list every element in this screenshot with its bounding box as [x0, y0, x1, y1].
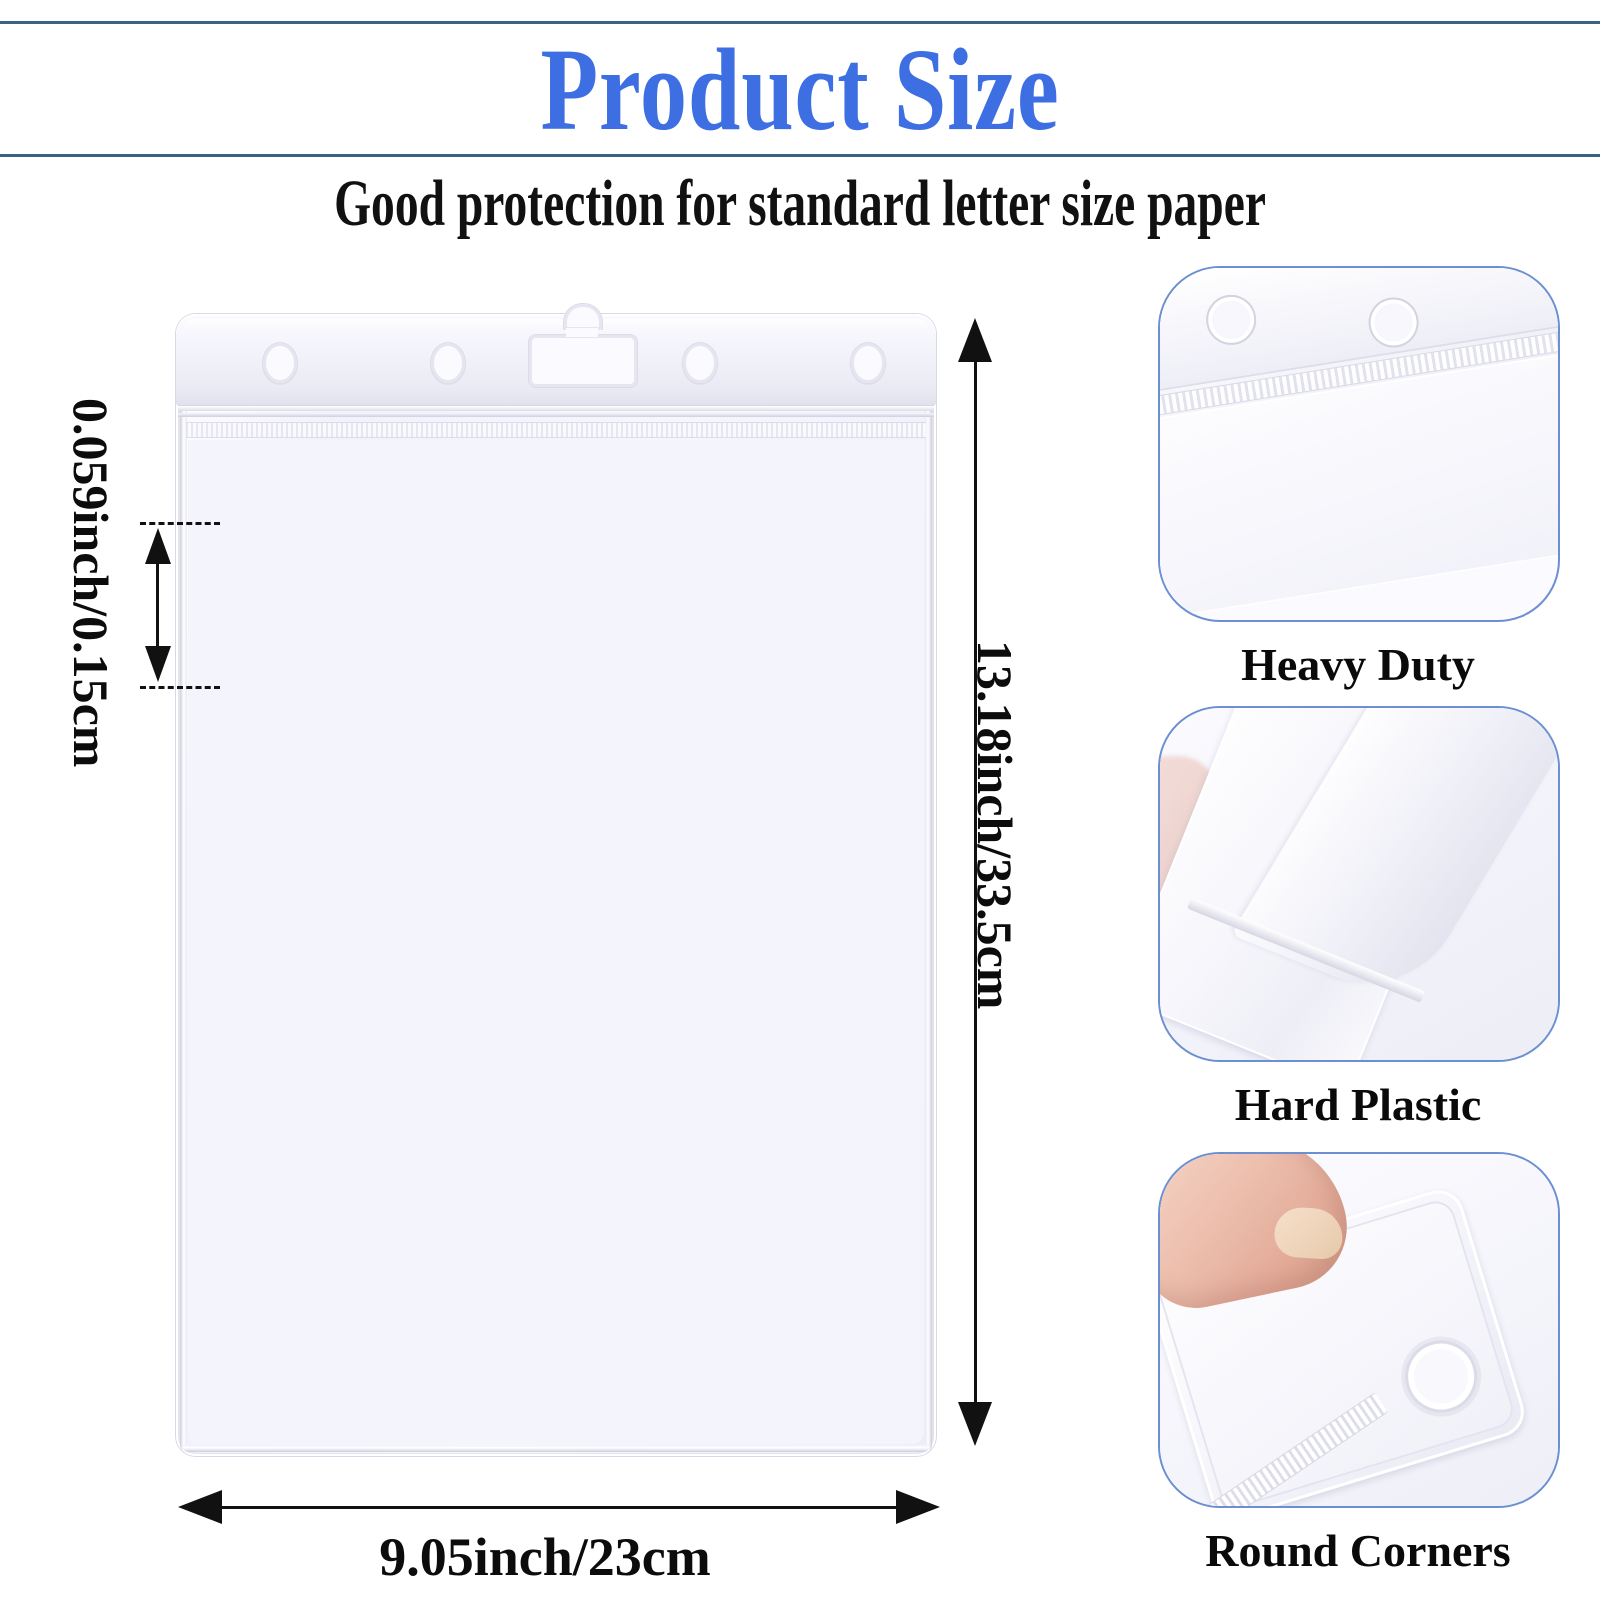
sleeve-top-strip — [176, 314, 936, 406]
punch-hole-icon — [430, 342, 466, 384]
feature-round-corners-caption: Round Corners — [1138, 1524, 1578, 1578]
thickness-leader-bottom — [140, 686, 220, 689]
product-image — [176, 314, 936, 1456]
punch-hole-icon — [850, 342, 886, 384]
keyhole-slot-tab-icon — [563, 303, 603, 330]
page-subtitle: Good protection for standard letter size… — [224, 166, 1376, 242]
thickness-arrow-down — [145, 646, 171, 682]
page-title: Product Size — [160, 26, 1440, 154]
header-rule-bottom — [0, 154, 1600, 157]
height-arrow-up — [958, 318, 992, 362]
zipper-seal-icon — [186, 422, 926, 438]
thickness-leader-top — [140, 522, 220, 525]
heavy-duty-sleeve-photo — [1158, 266, 1560, 611]
thickness-arrow-up — [145, 528, 171, 564]
sleeve-inner-panel — [188, 440, 924, 1444]
width-arrow-left — [178, 1490, 222, 1524]
feature-hard-plastic-frame — [1158, 706, 1560, 1062]
keyhole-slot-join — [566, 328, 598, 337]
keyhole-slot-icon — [528, 334, 638, 388]
feature-hard-plastic-caption: Hard Plastic — [1138, 1078, 1578, 1132]
strip-highlight — [184, 319, 928, 329]
seal-ridge-upper — [178, 406, 934, 411]
thickness-arrow-shaft — [156, 560, 159, 652]
thickness-label: 0.059inch/0.15cm — [64, 398, 118, 767]
width-arrow-right — [896, 1490, 940, 1524]
feature-heavy-duty-frame — [1158, 266, 1560, 622]
sleeve-bottom-edge — [182, 1445, 930, 1452]
punch-hole-icon — [682, 342, 718, 384]
punch-hole-icon — [262, 342, 298, 384]
feature-heavy-duty-caption: Heavy Duty — [1138, 638, 1578, 692]
height-label: 13.18inch/33.5cm — [968, 640, 1022, 1009]
width-arrow-shaft — [218, 1506, 908, 1509]
fingernail-icon — [1273, 1206, 1344, 1261]
sleeve-right-edge — [925, 318, 932, 1452]
sleeve-left-edge — [180, 318, 187, 1452]
seal-ridge-lower — [178, 413, 934, 417]
width-label: 9.05inch/23cm — [0, 1528, 1090, 1586]
feature-round-corners-frame — [1158, 1152, 1560, 1508]
height-arrow-down — [958, 1402, 992, 1446]
